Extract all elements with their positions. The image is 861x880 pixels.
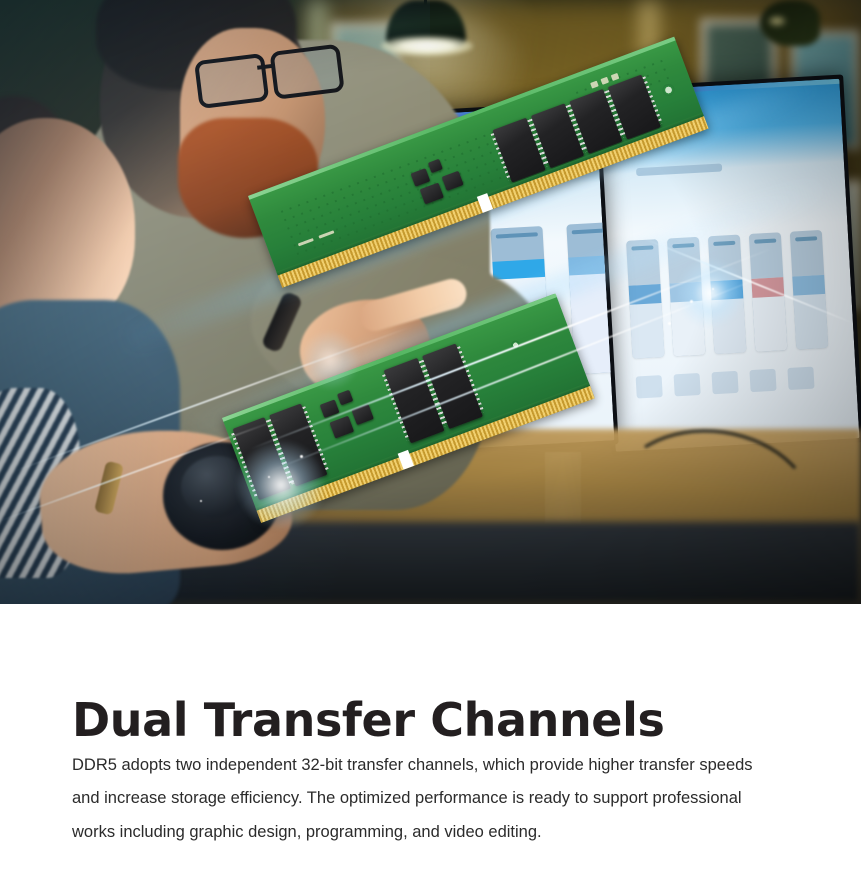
content-section: Dual Transfer Channels DDR5 adopts two i…: [0, 604, 861, 880]
vignette-overlay: [0, 0, 861, 604]
page-title: Dual Transfer Channels: [72, 697, 664, 743]
hero-image: [0, 0, 861, 604]
body-paragraph: DDR5 adopts two independent 32-bit trans…: [72, 749, 784, 850]
